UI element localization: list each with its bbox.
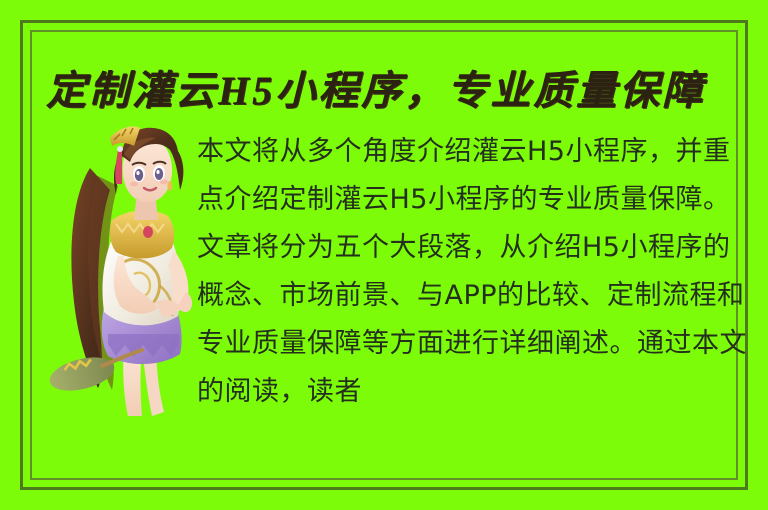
banner-body-text: 本文将从多个角度介绍灌云H5小程序，并重点介绍定制灌云H5小程序的专业质量保障。… — [197, 128, 749, 416]
hair-bead — [117, 146, 123, 152]
promo-banner: 定制灌云H5小程序，专业质量保障 — [0, 0, 768, 510]
character-illustration — [38, 116, 213, 418]
eye-left-iris — [135, 169, 143, 181]
brooch-gem — [143, 226, 153, 238]
eye-right-glint — [156, 170, 159, 174]
eye-right-iris — [155, 168, 163, 180]
blush-left — [130, 182, 138, 187]
neck — [134, 200, 158, 220]
banner-title: 定制灌云H5小程序，专业质量保障 — [46, 58, 706, 116]
hair-tassel — [115, 150, 122, 184]
eye-left-glint — [136, 171, 139, 175]
earring — [167, 181, 172, 191]
blush-right — [160, 180, 168, 185]
